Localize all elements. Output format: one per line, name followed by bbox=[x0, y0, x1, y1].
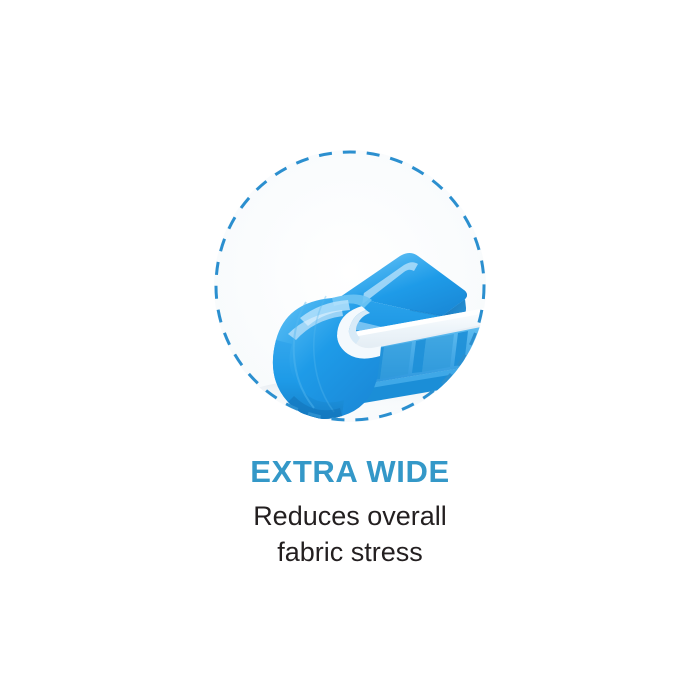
product-feature-card: EXTRA WIDE Reduces overall fabric stress bbox=[0, 0, 700, 700]
caption-block: EXTRA WIDE Reduces overall fabric stress bbox=[0, 455, 700, 570]
subtitle-line-2: fabric stress bbox=[0, 535, 700, 571]
product-figure-area bbox=[0, 0, 700, 460]
subtitle: Reduces overall fabric stress bbox=[0, 499, 700, 570]
headline: EXTRA WIDE bbox=[0, 455, 700, 489]
subtitle-line-1: Reduces overall bbox=[0, 499, 700, 535]
dashed-circle-frame bbox=[214, 150, 486, 422]
